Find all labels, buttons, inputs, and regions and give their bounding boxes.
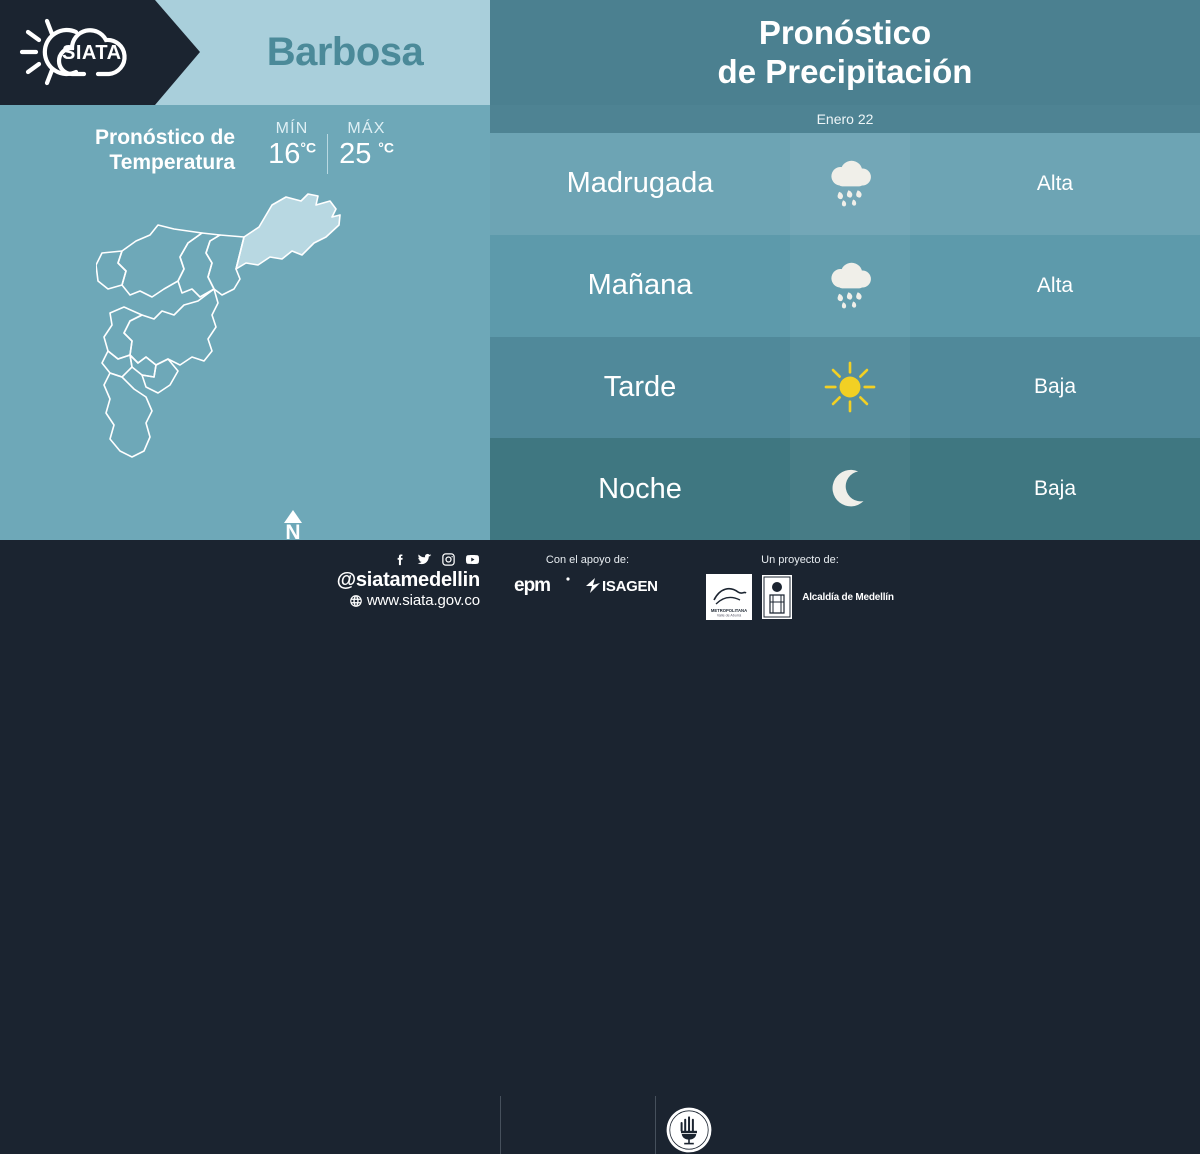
left-body: Pronóstico de Temperatura MÍN 16°C MÁX 2… [0, 105, 490, 540]
forecast-probability: Baja [910, 438, 1200, 540]
svg-text:ISAGEN: ISAGEN [602, 578, 658, 595]
forecast-date: Enero 22 [490, 105, 1200, 133]
sun-icon [819, 356, 881, 418]
website-text: www.siata.gov.co [367, 592, 480, 609]
forecast-probability: Alta [910, 133, 1200, 235]
youtube-icon[interactable] [465, 552, 480, 567]
map-region-bello [118, 225, 202, 297]
footer-divider-1 [500, 1096, 501, 1154]
epm-logo: epm [514, 574, 574, 596]
aburra-valley-map: N [0, 185, 490, 540]
alcaldia-label: Alcaldía de Medellín [802, 592, 894, 603]
forecast-row: Mañana Alta [490, 235, 1200, 337]
facebook-icon[interactable] [393, 552, 408, 567]
rain-cloud-icon [819, 255, 881, 317]
rain-cloud-icon [819, 153, 881, 215]
left-header: SIATA Barbosa [0, 0, 490, 105]
forecast-row: Madrugada Alta [490, 133, 1200, 235]
area-metropolitana-logo: METROPOLITANA Valle de Aburrá [706, 574, 752, 620]
forecast-period: Tarde [490, 337, 790, 439]
map-region-medellin [124, 289, 218, 365]
forecast-header: Pronóstico de Precipitación [490, 0, 1200, 105]
max-value: 25 °C [339, 138, 394, 170]
social-handle[interactable]: @siatamedellin [330, 569, 480, 591]
temperature-values: MÍN 16°C MÁX 25 °C [257, 120, 405, 174]
forecast-row: Tarde Baja [490, 337, 1200, 439]
forecast-row: Noche Baja [490, 438, 1200, 540]
logo-text: SIATA [62, 42, 122, 64]
max-label: MÁX [339, 120, 394, 138]
weather-forecast-infographic: SIATA Barbosa Pronóstico de Temperatura … [0, 0, 1200, 630]
map-region-copacabana [178, 233, 220, 297]
forecast-icon-cell [790, 337, 910, 439]
isagen-logo: ISAGEN [584, 575, 662, 595]
map-region-itagui [104, 307, 142, 359]
siata-logo-banner: SIATA [0, 0, 200, 105]
svg-text:METROPOLITANA: METROPOLITANA [711, 608, 747, 613]
social-block: @siatamedellin www.siata.gov.co [330, 552, 480, 609]
temperature-title: Pronóstico de Temperatura [95, 120, 235, 176]
svg-text:epm: epm [514, 575, 550, 596]
project-logos: METROPOLITANA Valle de Aburrá Alcaldía d… [700, 574, 900, 620]
forecast-icon-cell [790, 438, 910, 540]
social-icons [330, 552, 480, 567]
support-block: Con el apoyo de: epm ISAGEN [510, 554, 665, 596]
support-caption: Con el apoyo de: [510, 554, 665, 566]
map-region-barbosa [236, 194, 340, 269]
project-caption: Un proyecto de: [700, 554, 900, 566]
map-svg [96, 185, 396, 495]
support-logos: epm ISAGEN [510, 574, 665, 596]
forecast-period: Madrugada [490, 133, 790, 235]
forecast-period: Noche [490, 438, 790, 540]
sun-cloud-icon: SIATA [14, 12, 134, 92]
svg-text:Valle de Aburrá: Valle de Aburrá [717, 614, 741, 618]
min-label: MÍN [268, 120, 316, 138]
forecast-title: Pronóstico de Precipitación [718, 14, 973, 92]
instagram-icon[interactable] [441, 552, 456, 567]
right-panel: Pronóstico de Precipitación Enero 22 Mad… [490, 0, 1200, 540]
temperature-max: MÁX 25 °C [328, 120, 405, 169]
udea-seal-icon [665, 1106, 713, 1154]
temperature-min: MÍN 16°C [257, 120, 327, 169]
forecast-rows: Madrugada AltaMañana AltaTarde BajaNoche [490, 133, 1200, 540]
forecast-probability: Baja [910, 337, 1200, 439]
footer-divider-2 [655, 1096, 656, 1154]
forecast-icon-cell [790, 133, 910, 235]
north-indicator: N [278, 510, 308, 540]
map-region-sabaneta [130, 355, 156, 377]
forecast-probability: Alta [910, 235, 1200, 337]
footer: @siatamedellin www.siata.gov.co Con el a… [0, 540, 1200, 630]
alcaldia-shield-icon [762, 575, 792, 619]
map-region-envigado [142, 359, 178, 393]
north-label: N [278, 522, 308, 540]
globe-icon [349, 594, 363, 608]
website-row[interactable]: www.siata.gov.co [330, 592, 480, 609]
project-block: Un proyecto de: METROPOLITANA Valle de A… [700, 554, 900, 620]
map-region-northwest [96, 251, 126, 289]
map-region-la-estrella [102, 351, 132, 377]
min-value: 16°C [268, 138, 316, 170]
city-title: Barbosa [200, 0, 490, 105]
left-panel: SIATA Barbosa Pronóstico de Temperatura … [0, 0, 490, 540]
forecast-period: Mañana [490, 235, 790, 337]
forecast-icon-cell [790, 235, 910, 337]
moon-icon [823, 462, 877, 516]
twitter-icon[interactable] [417, 552, 432, 567]
temperature-block: Pronóstico de Temperatura MÍN 16°C MÁX 2… [0, 120, 490, 195]
